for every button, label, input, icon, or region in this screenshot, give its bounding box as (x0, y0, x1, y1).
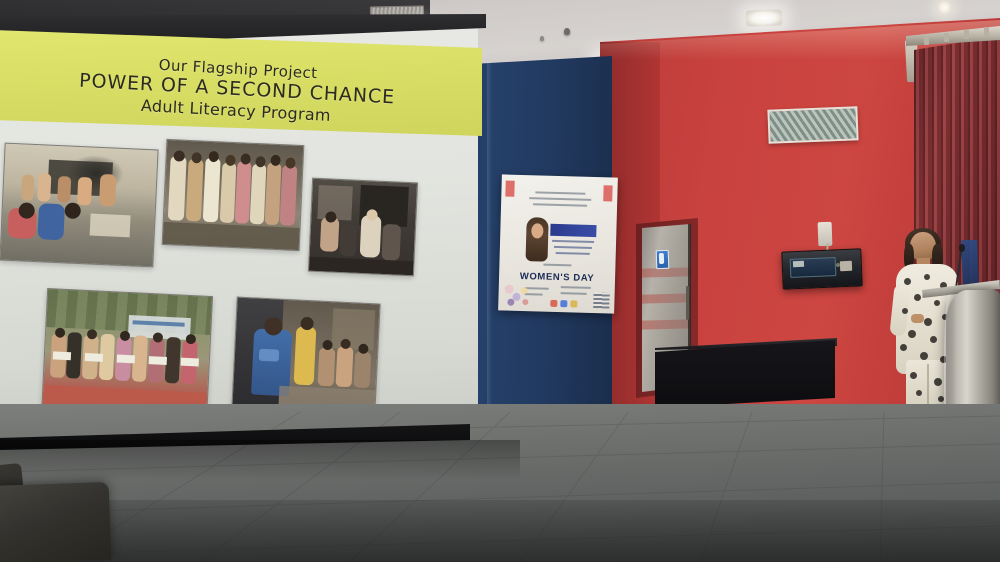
wall-speaker-box (818, 222, 833, 246)
banner-corner-mark (603, 185, 612, 201)
slide-photo (308, 178, 418, 277)
banner-header-line (529, 197, 591, 200)
restroom-sign-glyph (659, 253, 664, 264)
banner-detail-line (561, 292, 587, 294)
fabric-dot (916, 390, 922, 396)
door-band (642, 319, 690, 329)
slide-photo (231, 297, 380, 416)
door-handle[interactable] (686, 286, 689, 320)
fabric-dot (902, 308, 908, 314)
sprinkler-icon (540, 36, 544, 41)
display-panel-knob (840, 261, 852, 271)
door-band (642, 267, 690, 277)
curtain-hook-icon (924, 36, 929, 45)
foreground-chair[interactable] (0, 482, 111, 562)
fabric-dot (908, 330, 916, 338)
banner-corner-mark (505, 181, 514, 197)
banner-qr-icon (593, 292, 609, 308)
wall-vent-icon (767, 106, 858, 143)
fabric-dot (934, 378, 942, 386)
projection-screen: Our Flagship Project POWER OF A SECOND C… (0, 14, 494, 444)
banner-logo-icon (560, 300, 567, 307)
banner-decor-blob (522, 299, 528, 305)
banner-decor-blob (505, 285, 514, 294)
banner-subtitle-line (554, 246, 592, 249)
display-panel-indicator (793, 261, 804, 267)
banner-subtitle-line (556, 252, 590, 254)
banner-speaker-name-box (550, 224, 596, 237)
banner-logo-icon (550, 300, 557, 307)
curtain-hook-icon (944, 33, 949, 42)
slide-photo (0, 143, 159, 268)
womens-day-banner: WOMEN'S DAY (498, 174, 618, 313)
slide-photo (162, 139, 305, 251)
auditorium-photo: WOMEN'S DAY (0, 0, 1000, 562)
banner-header-line (535, 191, 585, 194)
fabric-dot (910, 372, 917, 379)
fabric-dot (900, 344, 907, 351)
ceiling-spotlight-icon (938, 1, 951, 14)
presenter-leg-split (927, 364, 929, 408)
microphone-icon (959, 244, 965, 252)
banner-detail-line (561, 286, 591, 288)
banner-decor-blob (507, 299, 514, 306)
fabric-dot (920, 352, 928, 360)
banner-heading: WOMEN'S DAY (515, 271, 599, 284)
banner-subtitle-line (552, 240, 594, 243)
door-band (642, 293, 690, 303)
fabric-dot (934, 300, 940, 306)
banner-detail-line (525, 287, 549, 289)
ceiling-light-icon (746, 9, 783, 26)
fabric-dot (904, 278, 911, 285)
banner-logo-icon (570, 300, 577, 307)
curtain-hook-icon (984, 27, 989, 36)
fabric-dot (930, 336, 937, 343)
floor-foreground-shadow (0, 500, 1000, 562)
banner-detail-line (525, 293, 543, 295)
curtain-hook-icon (964, 30, 969, 39)
banner-divider-line (543, 264, 571, 266)
stage-shadow (0, 440, 520, 480)
stage-riser (655, 340, 835, 408)
banner-header-line (533, 203, 587, 206)
sprinkler-icon (564, 28, 570, 35)
fabric-dot (914, 294, 921, 301)
fabric-dot (924, 274, 930, 280)
fabric-dot (924, 318, 932, 326)
presenter-hand (911, 314, 924, 323)
